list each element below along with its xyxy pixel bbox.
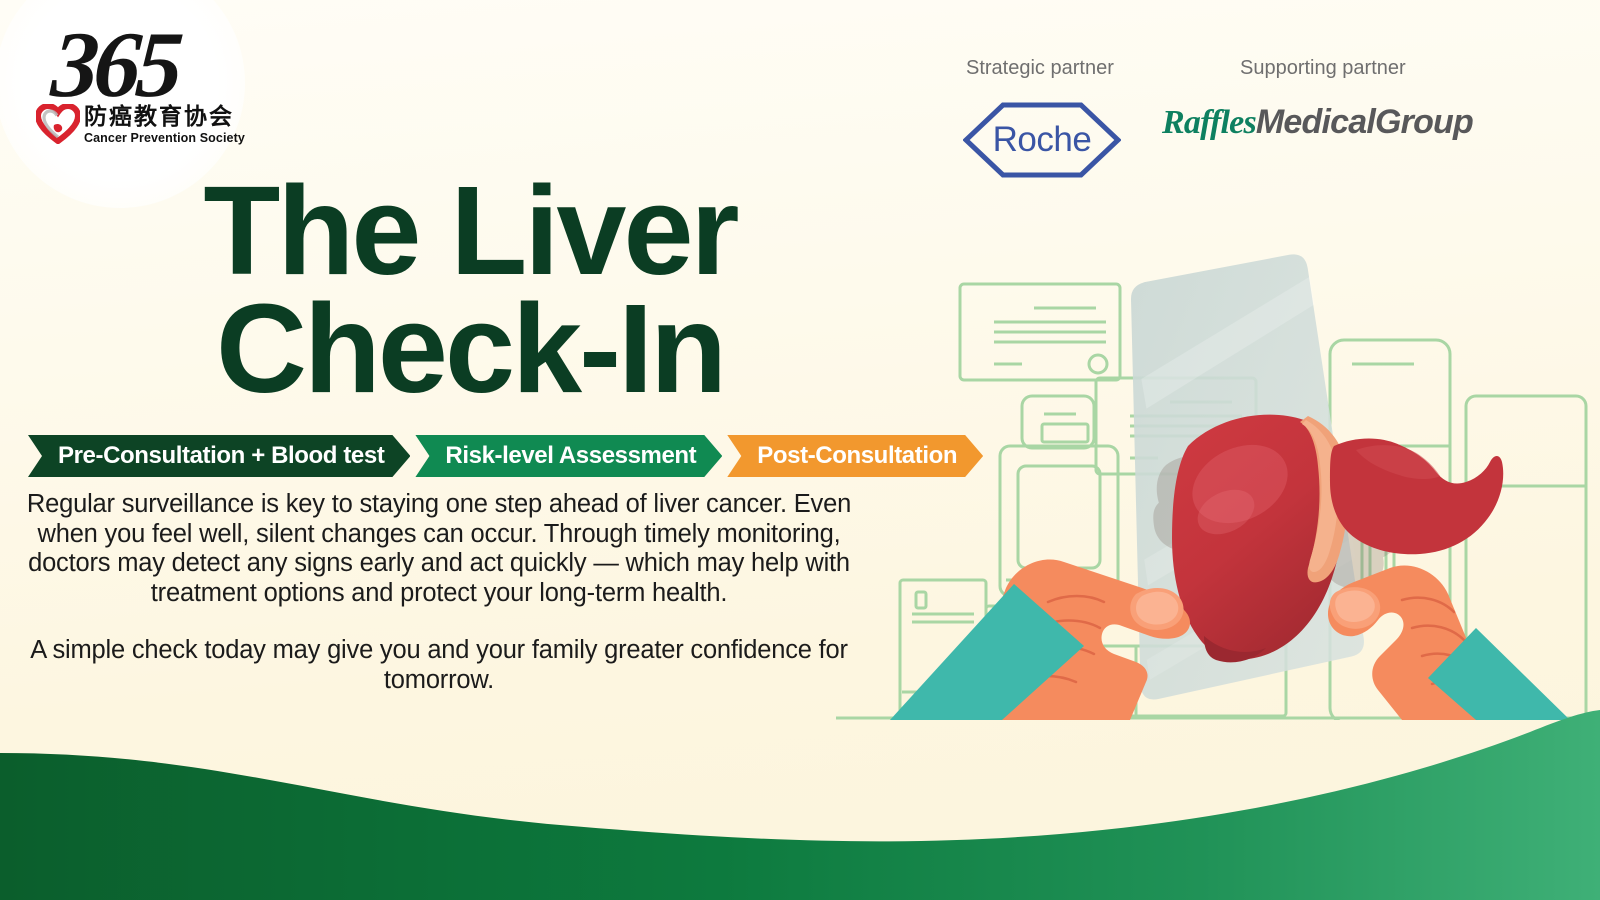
raffles-word: Raffles (1162, 104, 1256, 141)
title-line-2: Check-In (0, 290, 940, 408)
body-paragraph-2: A simple check today may give you and yo… (24, 636, 854, 695)
bottom-wave-decoration (0, 710, 1600, 900)
title-line-1: The Liver (0, 172, 940, 290)
step-risk-assessment[interactable]: Risk-level Assessment (415, 435, 722, 477)
poster-canvas: 365 防癌教育协会 Cancer Prevention Society Str… (0, 0, 1600, 900)
heart-icon (36, 104, 80, 144)
logo-chinese-text: 防癌教育协会 (84, 104, 234, 130)
process-steps: Pre-Consultation + Blood test Risk-level… (28, 435, 983, 477)
supporting-partner-label: Supporting partner (1240, 57, 1406, 80)
body-paragraph-1: Regular surveillance is key to staying o… (24, 490, 854, 608)
roche-wordmark: Roche (963, 102, 1121, 178)
brand-logo: 365 防癌教育协会 Cancer Prevention Society (28, 18, 228, 158)
logo-english-text: Cancer Prevention Society (84, 131, 245, 145)
hands-holding-liver-scan-illustration (836, 250, 1600, 720)
step-post-consultation[interactable]: Post-Consultation (727, 435, 983, 477)
medicalgroup-word: MedicalGroup (1256, 103, 1473, 141)
body-copy: Regular surveillance is key to staying o… (24, 490, 854, 695)
logo-365-text: 365 (49, 18, 182, 112)
strategic-partner-label: Strategic partner (966, 57, 1114, 80)
raffles-medical-group-logo: RafflesMedicalGroup (1162, 103, 1473, 142)
roche-logo: Roche (963, 102, 1121, 178)
step-pre-consultation[interactable]: Pre-Consultation + Blood test (28, 435, 410, 477)
page-title: The Liver Check-In (0, 172, 940, 408)
